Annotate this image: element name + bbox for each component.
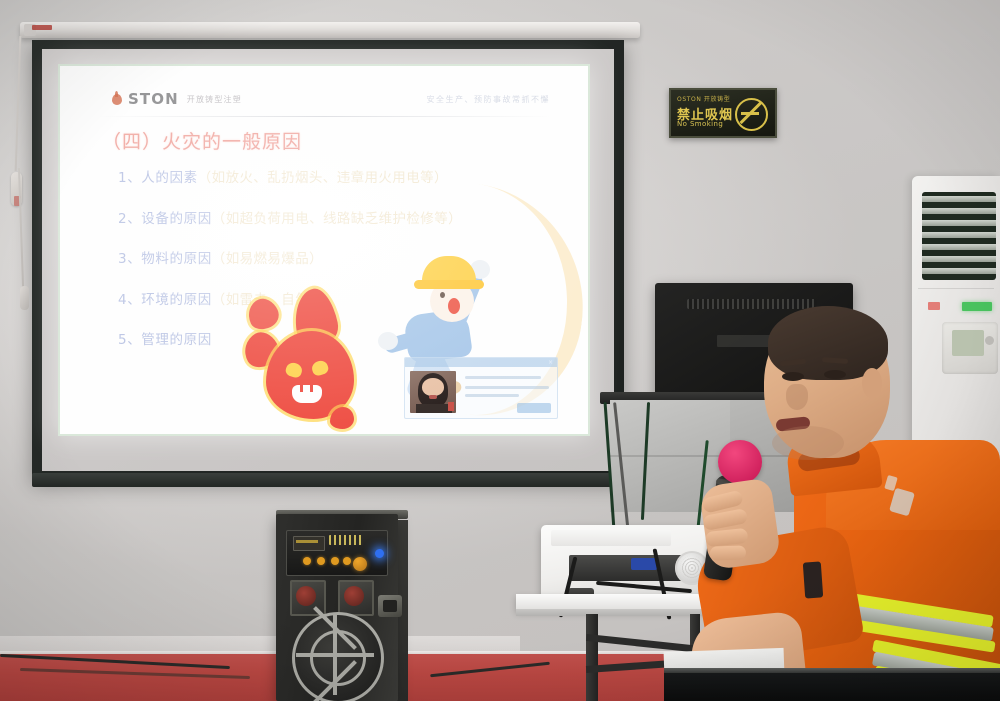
list-item: 2、设备的原因（如超负荷用电、线路缺乏维护检修等） bbox=[118, 213, 568, 227]
ac-panel-seam bbox=[918, 288, 994, 289]
slide-title: （四）火灾的一般原因 bbox=[102, 127, 302, 154]
flame-mouth bbox=[292, 385, 322, 403]
projection-screen-casing bbox=[20, 22, 640, 38]
sign-english-text: No Smoking bbox=[677, 120, 723, 128]
flame-body bbox=[266, 331, 354, 419]
worker-forward-hand bbox=[378, 332, 398, 350]
sign-brand-label: OSTON 开放铸型 bbox=[677, 94, 730, 103]
speaker-control-panel[interactable] bbox=[286, 530, 388, 576]
person-ear bbox=[862, 368, 882, 398]
training-room-photo: STON 开放铸型注塑 安全生产、预防事故常抓不懈 （四）火灾的一般原因 1、人… bbox=[0, 0, 1000, 701]
bullet-number: 3、 bbox=[118, 251, 141, 267]
speaker-carry-handle[interactable] bbox=[378, 595, 402, 617]
slide-logo: STON 开放铸型注塑 bbox=[110, 90, 242, 108]
flame-ember bbox=[330, 407, 354, 429]
person-eye-right bbox=[824, 370, 846, 379]
video-call-overlay-window[interactable]: × bbox=[404, 357, 558, 419]
thumbnail-face bbox=[422, 378, 444, 396]
thumbnail-body bbox=[416, 404, 452, 413]
finger bbox=[705, 528, 748, 547]
front-desk bbox=[664, 673, 1000, 701]
bullet-number: 5、 bbox=[118, 332, 141, 348]
table-leg-left bbox=[586, 614, 598, 701]
worker-eye bbox=[440, 292, 445, 298]
firefighter-instructor bbox=[676, 300, 1000, 701]
bullet-sub: （如超负荷用电、线路缺乏维护检修等） bbox=[212, 211, 462, 227]
bullet-sub: （如易燃易爆品） bbox=[212, 251, 323, 267]
bullet-main: 设备的原因 bbox=[141, 211, 212, 227]
projector-top-panel bbox=[551, 530, 671, 546]
bullet-number: 1、 bbox=[118, 170, 141, 186]
speaker-volume-knob[interactable] bbox=[353, 557, 367, 571]
speaker-knob-2[interactable] bbox=[317, 557, 325, 565]
person-eye-left bbox=[782, 372, 804, 381]
bullet-main: 物料的原因 bbox=[141, 251, 212, 267]
speaker-tweeter-right bbox=[338, 580, 374, 616]
screen-bottom-bar bbox=[32, 473, 624, 487]
video-call-thumbnail bbox=[410, 371, 456, 413]
bullet-main: 管理的原因 bbox=[141, 332, 212, 348]
video-window-text-line bbox=[465, 386, 549, 389]
no-smoking-icon bbox=[735, 98, 768, 131]
speaker-power-led bbox=[375, 549, 384, 558]
no-smoking-sign: OSTON 开放铸型 禁止吸烟 No Smoking bbox=[669, 88, 777, 138]
video-window-action-button[interactable] bbox=[517, 403, 551, 413]
video-window-title-line bbox=[465, 376, 541, 379]
casing-label bbox=[32, 25, 52, 30]
projector-vga-connector[interactable] bbox=[631, 558, 657, 570]
speaker-knob-1[interactable] bbox=[303, 557, 311, 565]
slide-logo-word: STON bbox=[128, 90, 179, 108]
slide-header-tagline: 安全生产、预防事故常抓不懈 bbox=[427, 94, 551, 105]
projected-slide: STON 开放铸型注塑 安全生产、预防事故常抓不懈 （四）火灾的一般原因 1、人… bbox=[58, 64, 590, 436]
projector-port-panel[interactable] bbox=[569, 555, 689, 581]
microphone-foam-windscreen bbox=[718, 440, 762, 484]
thumbnail-mouth bbox=[429, 395, 437, 399]
person-chin bbox=[772, 426, 844, 460]
speaker-level-meter bbox=[329, 535, 363, 545]
bullet-main: 人的因素 bbox=[141, 170, 197, 186]
flame-small-icon bbox=[243, 294, 283, 334]
slide-header-divider bbox=[98, 116, 550, 117]
list-item: 1、人的因素（如放火、乱扔烟头、违章用火用电等） bbox=[118, 172, 568, 186]
cigarette-icon bbox=[741, 112, 759, 115]
person-nose bbox=[786, 384, 808, 410]
close-icon[interactable]: × bbox=[548, 360, 553, 365]
bullet-number: 2、 bbox=[118, 211, 141, 227]
oston-droplet-icon bbox=[110, 91, 123, 107]
uniform-pocket-flap bbox=[803, 561, 823, 598]
bullet-main: 环境的原因 bbox=[141, 292, 212, 308]
person-hand-holding-microphone bbox=[699, 477, 782, 570]
worker-hardhat-brim bbox=[414, 280, 484, 289]
worker-mouth bbox=[448, 298, 460, 314]
slide-logo-subtitle: 开放铸型注塑 bbox=[187, 94, 242, 105]
finger bbox=[710, 545, 746, 560]
video-window-text-line bbox=[465, 394, 519, 397]
speaker-knob-3[interactable] bbox=[331, 557, 339, 565]
speaker-knob-4[interactable] bbox=[343, 557, 351, 565]
video-window-titlebar[interactable]: × bbox=[405, 358, 557, 367]
ac-vent-grille bbox=[922, 192, 996, 280]
bullet-number: 4、 bbox=[118, 292, 141, 308]
bullet-sub: （如放火、乱扔烟头、违章用火用电等） bbox=[198, 170, 448, 186]
thumbnail-accent bbox=[448, 402, 454, 411]
screen-pull-handle-lower[interactable] bbox=[20, 286, 29, 310]
speaker-display bbox=[293, 536, 325, 551]
